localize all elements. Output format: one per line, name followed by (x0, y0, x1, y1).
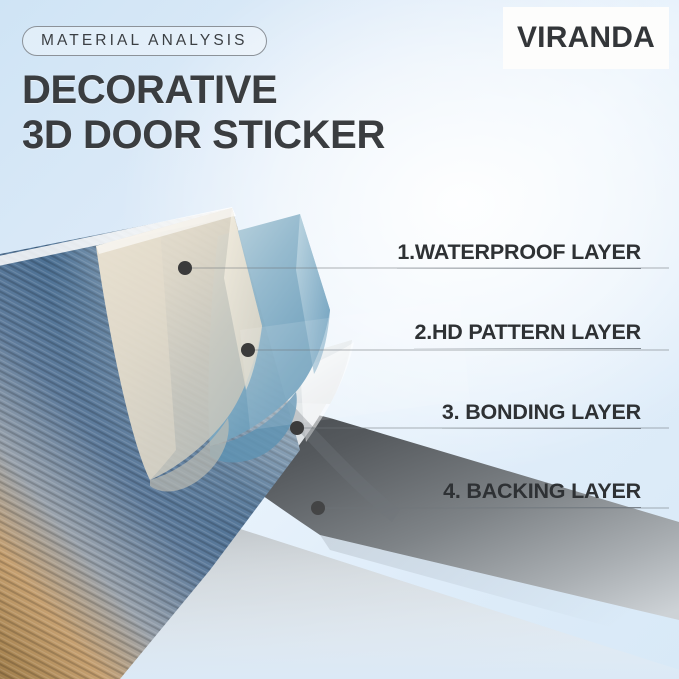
callout-underline-4 (443, 507, 641, 508)
page-title-line-2: 3D DOOR STICKER (22, 113, 385, 158)
callout-label-backing-layer: 4. BACKING LAYER (443, 479, 641, 508)
product-infographic: 1.WATERPROOF LAYER 2.HD PATTERN LAYER 3.… (0, 0, 679, 679)
callout-label-hd-pattern-layer: 2.HD PATTERN LAYER (414, 320, 641, 349)
callout-underline-2 (414, 348, 641, 349)
callout-underline-1 (397, 268, 641, 269)
callout-label-waterproof-layer: 1.WATERPROOF LAYER (397, 240, 641, 269)
brand-name: VIRANDA (517, 21, 655, 55)
page-title-line-1: DECORATIVE (22, 68, 277, 112)
callout-text-2: 2.HD PATTERN LAYER (414, 320, 641, 348)
brand-logo: VIRANDA (503, 7, 669, 69)
badge-label: MATERIAL ANALYSIS (41, 32, 248, 50)
callout-text-1: 1.WATERPROOF LAYER (397, 240, 641, 268)
page-title: DECORATIVE 3D DOOR STICKER (22, 68, 385, 158)
callout-text-4: 4. BACKING LAYER (443, 479, 641, 507)
callout-label-bonding-layer: 3. BONDING LAYER (442, 400, 641, 429)
material-analysis-badge: MATERIAL ANALYSIS (22, 26, 267, 56)
callout-text-3: 3. BONDING LAYER (442, 400, 641, 428)
callout-underline-3 (442, 428, 641, 429)
